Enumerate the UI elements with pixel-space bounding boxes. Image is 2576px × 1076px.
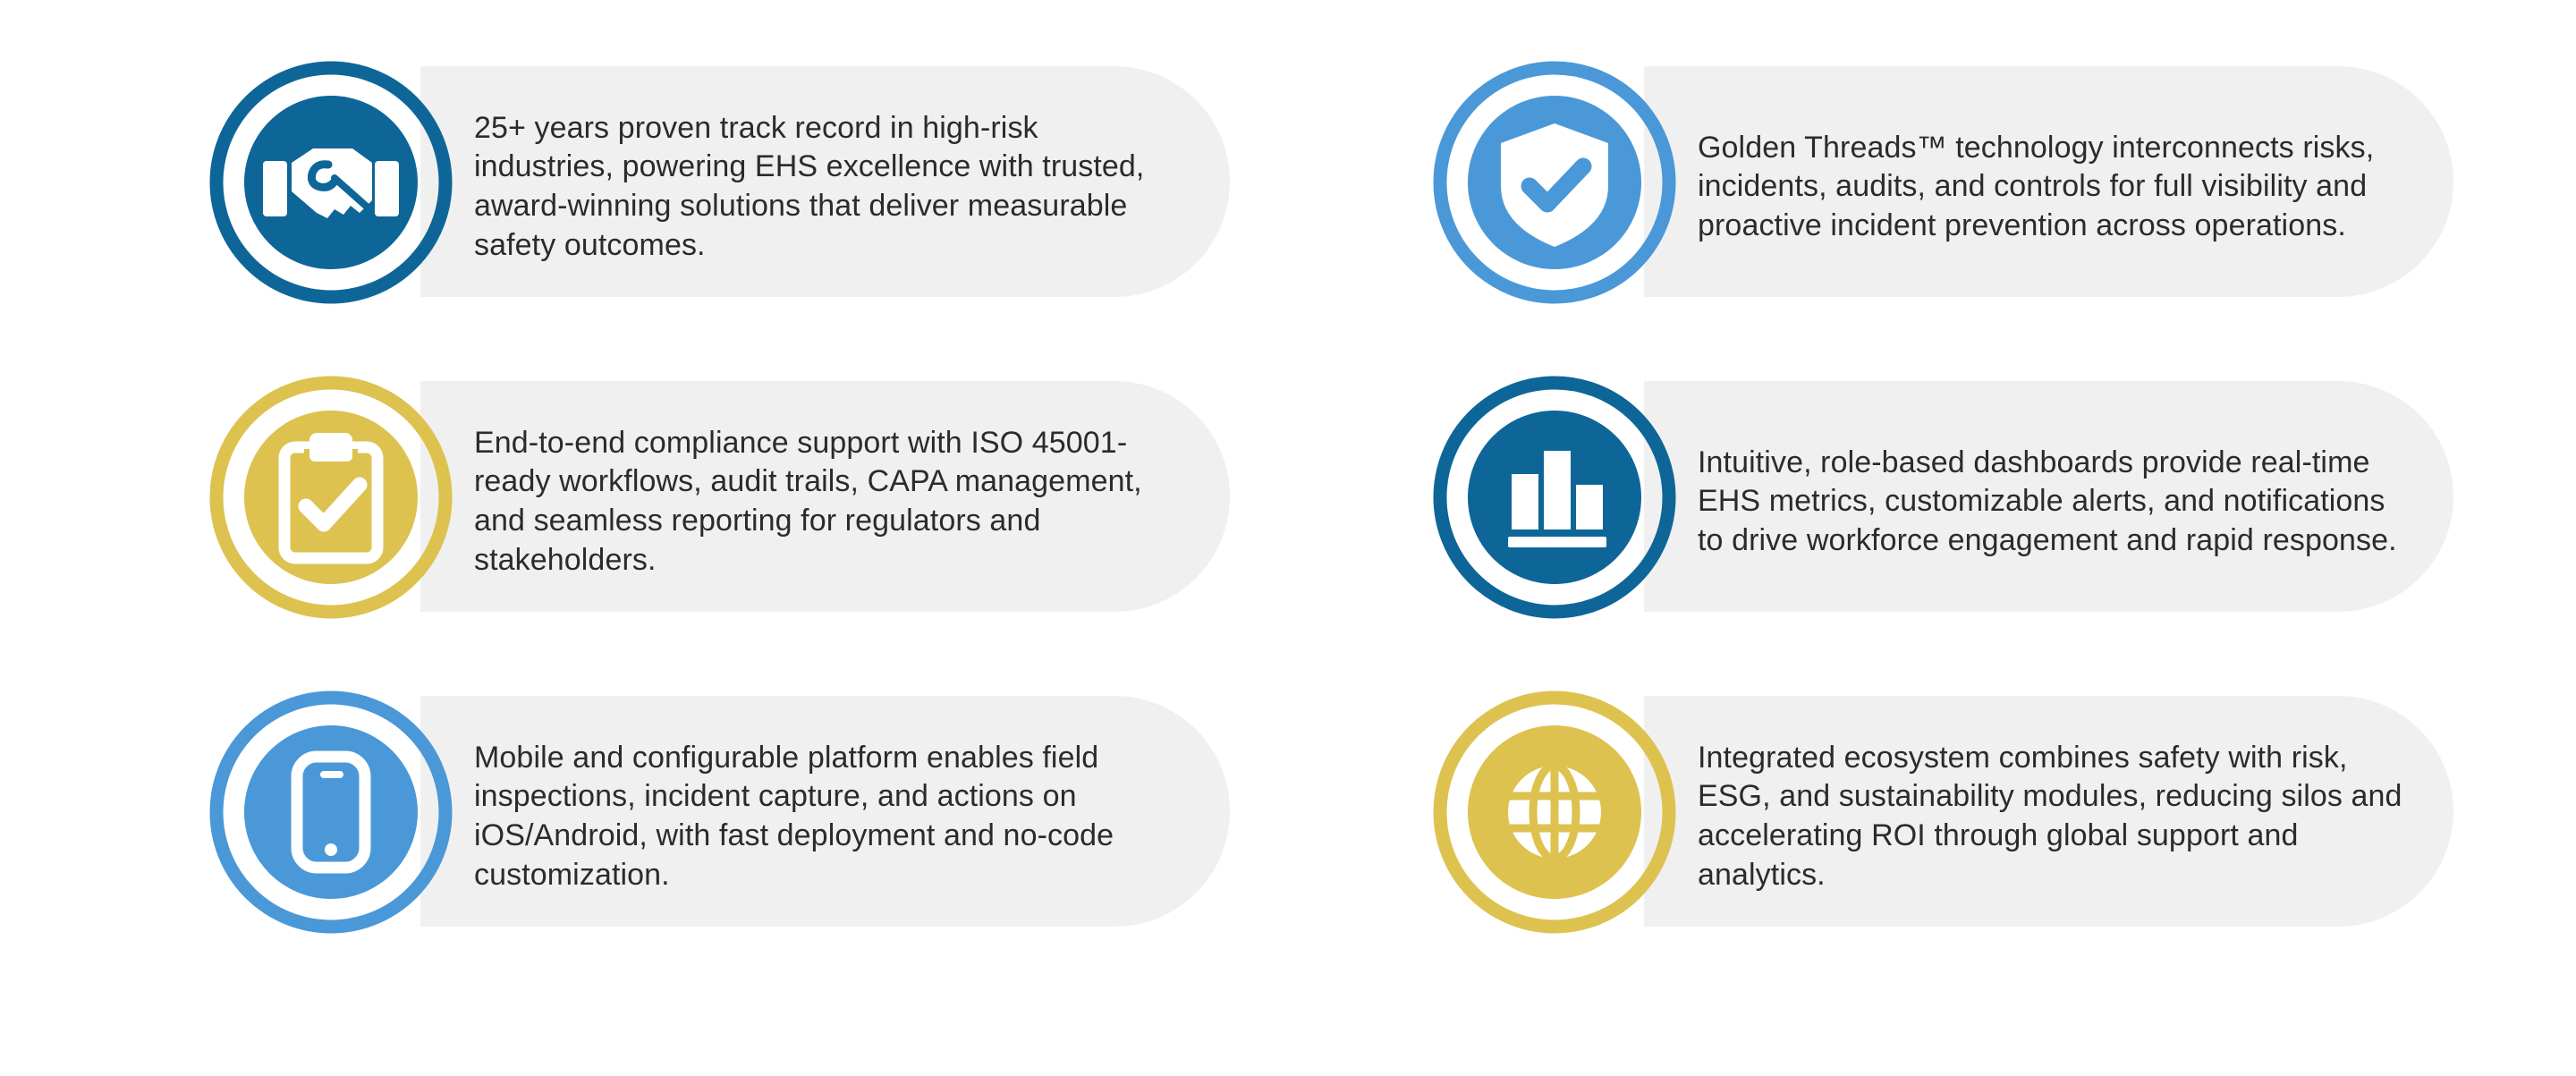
feature-cards-board: 25+ years proven track record in high-ri… (0, 0, 2576, 1076)
feature-card: Golden Threads™ technology interconnects… (1433, 66, 2576, 308)
feature-card: 25+ years proven track record in high-ri… (209, 66, 1352, 308)
clipboard-check-icon (209, 376, 453, 619)
card-description: End-to-end compliance support with ISO 4… (474, 424, 1181, 580)
card-description: Mobile and configurable platform enables… (474, 739, 1181, 894)
bar-chart-icon (1433, 376, 1676, 619)
feature-card: End-to-end compliance support with ISO 4… (209, 381, 1352, 623)
mobile-phone-icon (209, 691, 453, 934)
feature-card: Intuitive, role-based dashboards provide… (1433, 381, 2576, 623)
feature-card: Mobile and configurable platform enables… (209, 696, 1352, 937)
feature-card: Integrated ecosystem combines safety wit… (1433, 696, 2576, 937)
card-description: Golden Threads™ technology interconnects… (1698, 129, 2404, 246)
shield-check-icon (1433, 61, 1676, 304)
handshake-icon (209, 61, 453, 304)
feature-cards-grid: 25+ years proven track record in high-ri… (0, 0, 2576, 1076)
card-description: 25+ years proven track record in high-ri… (474, 109, 1181, 265)
globe-icon (1433, 691, 1676, 934)
card-description: Intuitive, role-based dashboards provide… (1698, 444, 2404, 561)
card-description: Integrated ecosystem combines safety wit… (1698, 739, 2404, 894)
